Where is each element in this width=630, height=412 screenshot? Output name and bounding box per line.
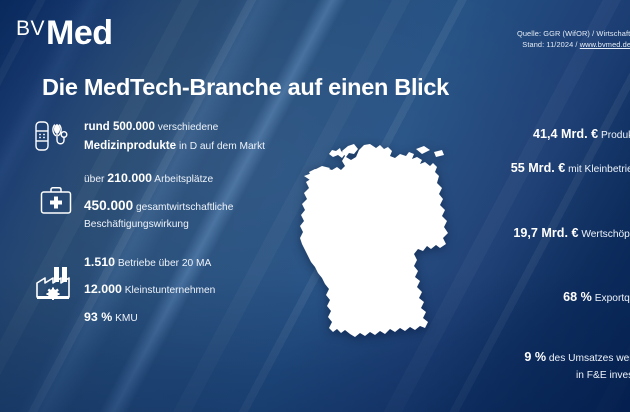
stat-line: 12.000 Kleinstunternehmen: [84, 279, 298, 300]
stat-label: Wertschöpfun: [579, 229, 630, 240]
first-aid-kit-icon: [28, 168, 84, 216]
stat-value: 19,7 Mrd. €: [513, 226, 578, 240]
stat-line: Beschäftigungswirkung: [84, 217, 298, 234]
germany-north-detail: [329, 148, 345, 158]
source-line-2: Stand: 11/2024 / www.bvmed.de/br: [517, 39, 630, 50]
stat-line: 93 % KMU: [84, 307, 298, 328]
stat-label: verschiedene: [155, 122, 218, 133]
stat-label: Exportquot: [592, 293, 630, 304]
stat-line: rund 500.000 verschiedene: [84, 118, 298, 137]
stat-label: Kleinstunternehmen: [122, 285, 215, 296]
logo-prefix: BV: [16, 18, 45, 39]
stat-row-jobs: über 210.000 Arbeitsplätze 450.000 gesam…: [28, 168, 298, 234]
stat-value: 93 %: [84, 310, 112, 324]
stat-value: 450.000: [84, 198, 133, 213]
stat-prefix: über: [84, 174, 107, 185]
stat-value: 210.000: [107, 171, 152, 185]
page-title: Die MedTech-Branche auf einen Blick: [42, 74, 449, 101]
stat-label: in D auf dem Markt: [176, 141, 265, 152]
stat-value: 41,4 Mrd. €: [533, 127, 598, 141]
stat-line: Medizinprodukte in D auf dem Markt: [84, 137, 298, 156]
bandage-stethoscope-icon: [28, 118, 84, 152]
stat-value: 9 %: [524, 350, 546, 364]
bvmed-logo: BV Med: [16, 16, 113, 56]
stat-line: über 210.000 Arbeitsplätze: [84, 168, 298, 189]
stat-value: 55 Mrd. €: [511, 161, 566, 175]
stat-value: Medizinprodukte: [84, 139, 176, 152]
stat-label: des Umsatzes werde: [546, 353, 630, 364]
stat-value-added: 19,7 Mrd. € Wertschöpfun: [344, 223, 630, 243]
left-stats-column: rund 500.000 verschiedene Medizinprodukt…: [28, 118, 298, 352]
stat-value: 1.510: [84, 255, 115, 269]
stat-line: 1.510 Betriebe über 20 MA: [84, 252, 298, 273]
stat-label-sub: in F&E investie: [344, 368, 630, 384]
source-website-link[interactable]: www.bvmed.de/br: [580, 40, 630, 49]
stat-label: Arbeitsplätze: [152, 174, 213, 185]
stat-export-quota: 68 % Exportquot: [344, 287, 630, 307]
stat-value: rund 500.000: [84, 120, 155, 133]
logo-main: Med: [46, 16, 113, 50]
stat-label: Betriebe über 20 MA: [115, 258, 211, 269]
source-attribution: Quelle: GGR (WifOR) / Wirtschaftsst Stan…: [517, 28, 630, 51]
stat-with-small-businesses: 55 Mrd. € mit Kleinbetriebe: [344, 158, 630, 178]
stat-value: 12.000: [84, 282, 122, 296]
infographic-canvas: BV Med Quelle: GGR (WifOR) / Wirtschafts…: [0, 0, 630, 412]
stat-label: Beschäftigungswirkung: [84, 219, 189, 230]
stat-label: Produktio: [598, 130, 630, 141]
stat-label: KMU: [112, 313, 137, 324]
stat-label: gesamtwirtschaftliche: [133, 202, 233, 213]
stat-rnd-investment: 9 % des Umsatzes werde in F&E investie: [344, 347, 630, 384]
stat-row-products: rund 500.000 verschiedene Medizinprodukt…: [28, 118, 298, 156]
stat-row-companies: 1.510 Betriebe über 20 MA 12.000 Kleinst…: [28, 252, 298, 335]
stat-text-products: rund 500.000 verschiedene Medizinprodukt…: [84, 118, 298, 156]
stat-line: 450.000 gesamtwirtschaftliche: [84, 195, 298, 217]
stat-value: 68 %: [563, 290, 592, 304]
stat-text-companies: 1.510 Betriebe über 20 MA 12.000 Kleinst…: [84, 252, 298, 335]
right-stats-column: 41,4 Mrd. € Produktio 55 Mrd. € mit Klei…: [344, 118, 630, 384]
source-date: Stand: 11/2024 /: [522, 40, 579, 49]
stat-label: mit Kleinbetriebe: [565, 164, 630, 175]
stat-production-volume: 41,4 Mrd. € Produktio: [344, 124, 630, 144]
source-line-1: Quelle: GGR (WifOR) / Wirtschaftsst: [517, 28, 630, 39]
factory-icon: [28, 252, 84, 300]
stat-text-jobs: über 210.000 Arbeitsplätze 450.000 gesam…: [84, 168, 298, 234]
